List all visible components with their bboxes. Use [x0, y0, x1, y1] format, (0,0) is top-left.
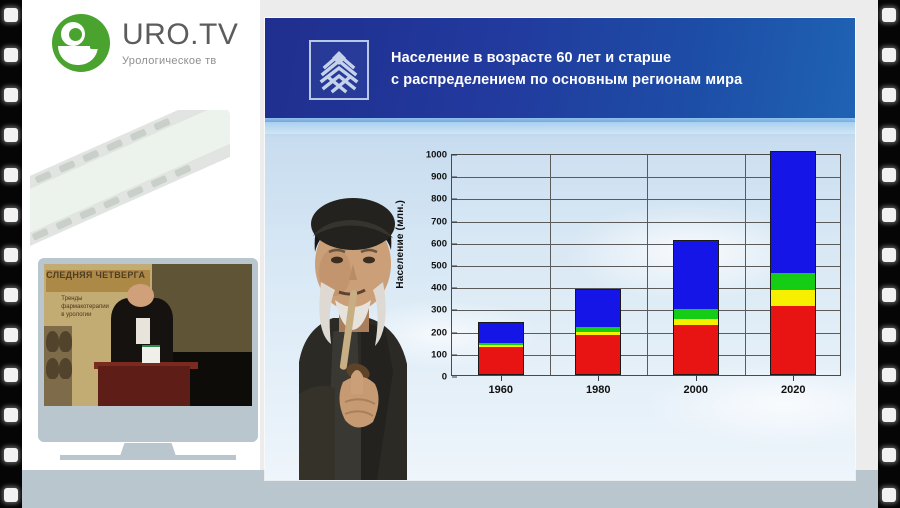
monitor-base	[60, 455, 236, 460]
chart-bar-segment	[771, 290, 815, 307]
chart-bar-segment	[479, 347, 523, 374]
poster-portraits	[44, 326, 72, 406]
chart-bar-segment	[771, 152, 815, 273]
filmstrip-right	[878, 0, 900, 508]
y-tick-mark	[452, 243, 457, 244]
pine-cone-emblem-icon	[309, 40, 369, 100]
pip-video-monitor[interactable]: СЛЕДНЯЯ ЧЕТВЕРГА Тренды фармакотерапии в…	[38, 258, 258, 442]
filmstrip-sprocket	[882, 248, 896, 262]
y-tick-mark	[452, 310, 457, 311]
pip-video-screen[interactable]: СЛЕДНЯЯ ЧЕТВЕРГА Тренды фармакотерапии в…	[44, 264, 252, 406]
x-tick-label: 1980	[586, 384, 610, 396]
x-tick-label: 1960	[489, 384, 513, 396]
slide-header-band: Население в возрасте 60 лет и старше с р…	[265, 18, 855, 122]
y-tick-label: 300	[431, 305, 447, 316]
y-tick-mark	[452, 199, 457, 200]
y-tick-mark	[452, 177, 457, 178]
filmstrip-sprocket	[4, 488, 18, 502]
chart-bar-segment	[674, 325, 718, 374]
chart-bar-segment	[479, 323, 523, 343]
y-tick-mark	[452, 377, 457, 378]
y-tick-label: 900	[431, 172, 447, 183]
y-tick-label: 400	[431, 283, 447, 294]
y-tick-mark	[452, 266, 457, 267]
poster-line-2: фармакотерапии	[61, 304, 109, 310]
y-tick-mark	[452, 288, 457, 289]
uro-tv-logo-icon	[52, 14, 110, 72]
filmstrip-sprocket	[4, 48, 18, 62]
chart-vertical-gridline	[550, 155, 551, 375]
y-tick-label: 200	[431, 327, 447, 338]
filmstrip-sprocket	[882, 128, 896, 142]
y-tick-label: 1000	[426, 150, 447, 161]
speaker-head	[127, 284, 154, 307]
filmstrip-sprocket	[882, 448, 896, 462]
presentation-slide: Население в возрасте 60 лет и старше с р…	[265, 18, 855, 480]
filmstrip-watermark	[30, 110, 230, 260]
y-tick-label: 800	[431, 194, 447, 205]
y-tick-mark	[452, 221, 457, 222]
x-tick-label: 2020	[781, 384, 805, 396]
chart-bar[interactable]	[673, 240, 719, 375]
y-tick-mark	[452, 155, 457, 156]
logo-title: URO.TV	[122, 20, 238, 50]
y-tick-label: 700	[431, 216, 447, 227]
slide-title-line-2: с распределением по основным регионам ми…	[391, 70, 742, 92]
logo-subtitle: Урологическое тв	[122, 56, 238, 67]
filmstrip-sprocket	[882, 408, 896, 422]
filmstrip-sprocket	[882, 48, 896, 62]
chart-bar-segment	[576, 290, 620, 328]
filmstrip-sprocket	[882, 328, 896, 342]
chart-bar-segment	[771, 273, 815, 290]
y-tick-mark	[452, 354, 457, 355]
chart-plot-area: 0100200300400500600700800900100019601980…	[451, 154, 841, 376]
uro-tv-logo: URO.TV Урологическое тв	[52, 14, 238, 72]
y-axis-label: Население (млн.)	[395, 200, 406, 289]
x-tick-mark	[793, 375, 794, 381]
y-tick-label: 500	[431, 261, 447, 272]
monitor-bezel: СЛЕДНЯЯ ЧЕТВЕРГА Тренды фармакотерапии в…	[38, 258, 258, 442]
chart-bar[interactable]	[478, 322, 524, 375]
filmstrip-sprocket	[882, 208, 896, 222]
filmstrip-sprocket	[4, 248, 18, 262]
filmstrip-sprocket	[4, 328, 18, 342]
filmstrip-sprocket	[882, 368, 896, 382]
slide-title: Население в возрасте 60 лет и старше с р…	[391, 48, 742, 92]
population-bar-chart: Население (млн.) 01002003004005006007008…	[393, 148, 845, 408]
video-player-frame: URO.TV Урологическое тв СЛЕДНЯЯ ЧЕТВЕРГА…	[0, 0, 900, 508]
x-tick-mark	[696, 375, 697, 381]
filmstrip-sprocket	[4, 88, 18, 102]
filmstrip-sprocket	[882, 288, 896, 302]
chart-bar[interactable]	[770, 151, 816, 375]
poster-line-1: Тренды	[61, 296, 82, 302]
filmstrip-sprocket	[4, 8, 18, 22]
filmstrip-left	[0, 0, 22, 508]
filmstrip-sprocket	[4, 168, 18, 182]
filmstrip-sprocket	[4, 448, 18, 462]
chart-bar-segment	[771, 306, 815, 374]
y-tick-label: 0	[442, 372, 447, 383]
podium	[98, 366, 190, 406]
chart-bar-segment	[674, 319, 718, 326]
x-tick-mark	[501, 375, 502, 381]
filmstrip-sprocket	[4, 288, 18, 302]
chart-vertical-gridline	[745, 155, 746, 375]
y-tick-label: 600	[431, 238, 447, 249]
x-tick-label: 2000	[684, 384, 708, 396]
y-tick-label: 100	[431, 349, 447, 360]
filmstrip-sprocket	[882, 488, 896, 502]
filmstrip-sprocket	[882, 8, 896, 22]
filmstrip-sprocket	[4, 368, 18, 382]
y-tick-mark	[452, 332, 457, 333]
filmstrip-sprocket	[882, 88, 896, 102]
filmstrip-sprocket	[4, 208, 18, 222]
chart-bar-segment	[674, 309, 718, 319]
chart-bar-segment	[674, 241, 718, 309]
filmstrip-sprocket	[4, 408, 18, 422]
slide-title-line-1: Население в возрасте 60 лет и старше	[391, 48, 742, 70]
chart-bar-segment	[576, 335, 620, 374]
filmstrip-sprocket	[4, 128, 18, 142]
chart-bar[interactable]	[575, 289, 621, 375]
x-tick-mark	[598, 375, 599, 381]
filmstrip-sprocket	[882, 168, 896, 182]
chart-vertical-gridline	[647, 155, 648, 375]
poster-line-3: в урологии	[61, 312, 91, 318]
